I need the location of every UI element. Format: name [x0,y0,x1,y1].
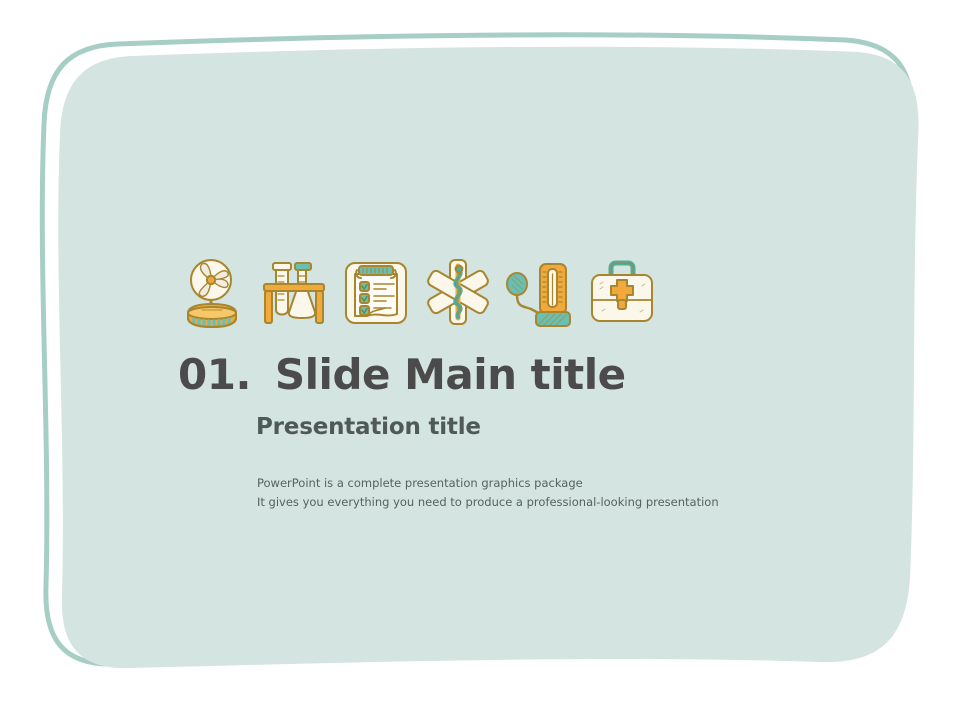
body-line-2: It gives you everything you need to prod… [257,493,719,512]
body-line-1: PowerPoint is a complete presentation gr… [257,474,719,493]
presentation-subtitle: Presentation title [256,414,481,442]
body-text: PowerPoint is a complete presentation gr… [257,474,719,512]
star-of-life-icon [422,255,494,331]
blood-pressure-monitor-icon [504,255,576,331]
icon-row [176,255,658,331]
first-aid-kit-icon [586,255,658,331]
slide-number: 01. [178,354,251,396]
presentation-slide: 01. Slide Main title Presentation title … [0,0,960,720]
title-row: 01. Slide Main title [178,354,626,396]
test-tubes-flask-rack-icon [258,255,330,331]
page-title: Slide Main title [275,354,626,396]
table-fan-icon [176,255,248,331]
clipboard-checklist-icon [340,255,412,331]
